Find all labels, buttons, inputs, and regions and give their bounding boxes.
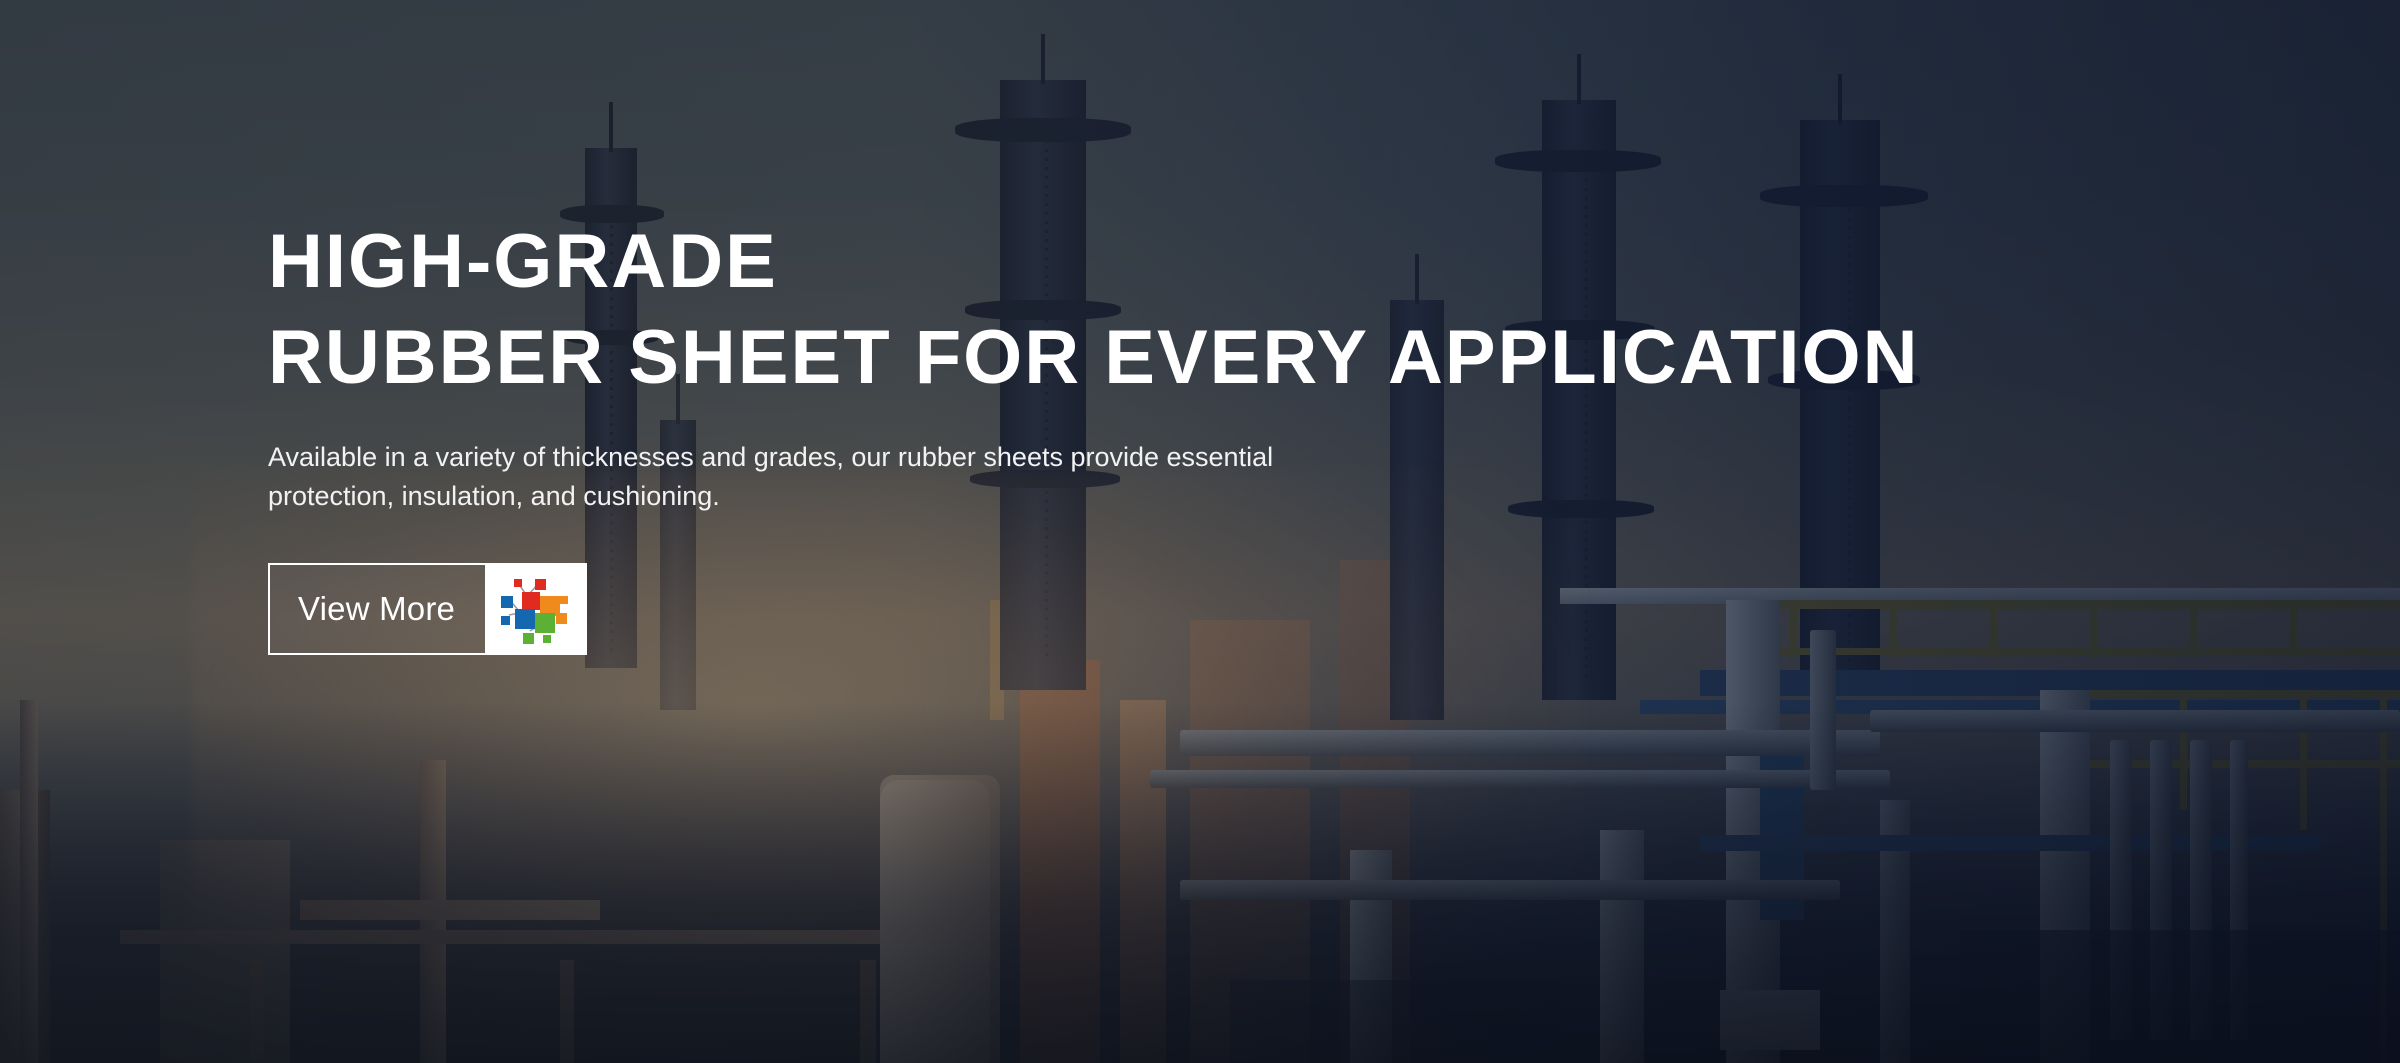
- headline-line-2: RUBBER SHEET FOR EVERY APPLICATION: [268, 314, 2168, 402]
- view-more-button-label: View More: [270, 565, 485, 653]
- hero-banner: HIGH-GRADE RUBBER SHEET FOR EVERY APPLIC…: [0, 0, 2400, 1063]
- network-nodes-logo-icon: [485, 565, 585, 653]
- headline-line-1: HIGH-GRADE: [268, 218, 2168, 306]
- hero-content: HIGH-GRADE RUBBER SHEET FOR EVERY APPLIC…: [268, 218, 2168, 655]
- subtitle-line-2: protection, insulation, and cushioning.: [268, 477, 1648, 515]
- page-title: HIGH-GRADE RUBBER SHEET FOR EVERY APPLIC…: [268, 218, 2168, 402]
- view-more-button[interactable]: View More: [268, 563, 587, 655]
- hero-subtitle: Available in a variety of thicknesses an…: [268, 438, 1648, 515]
- subtitle-line-1: Available in a variety of thicknesses an…: [268, 438, 1648, 476]
